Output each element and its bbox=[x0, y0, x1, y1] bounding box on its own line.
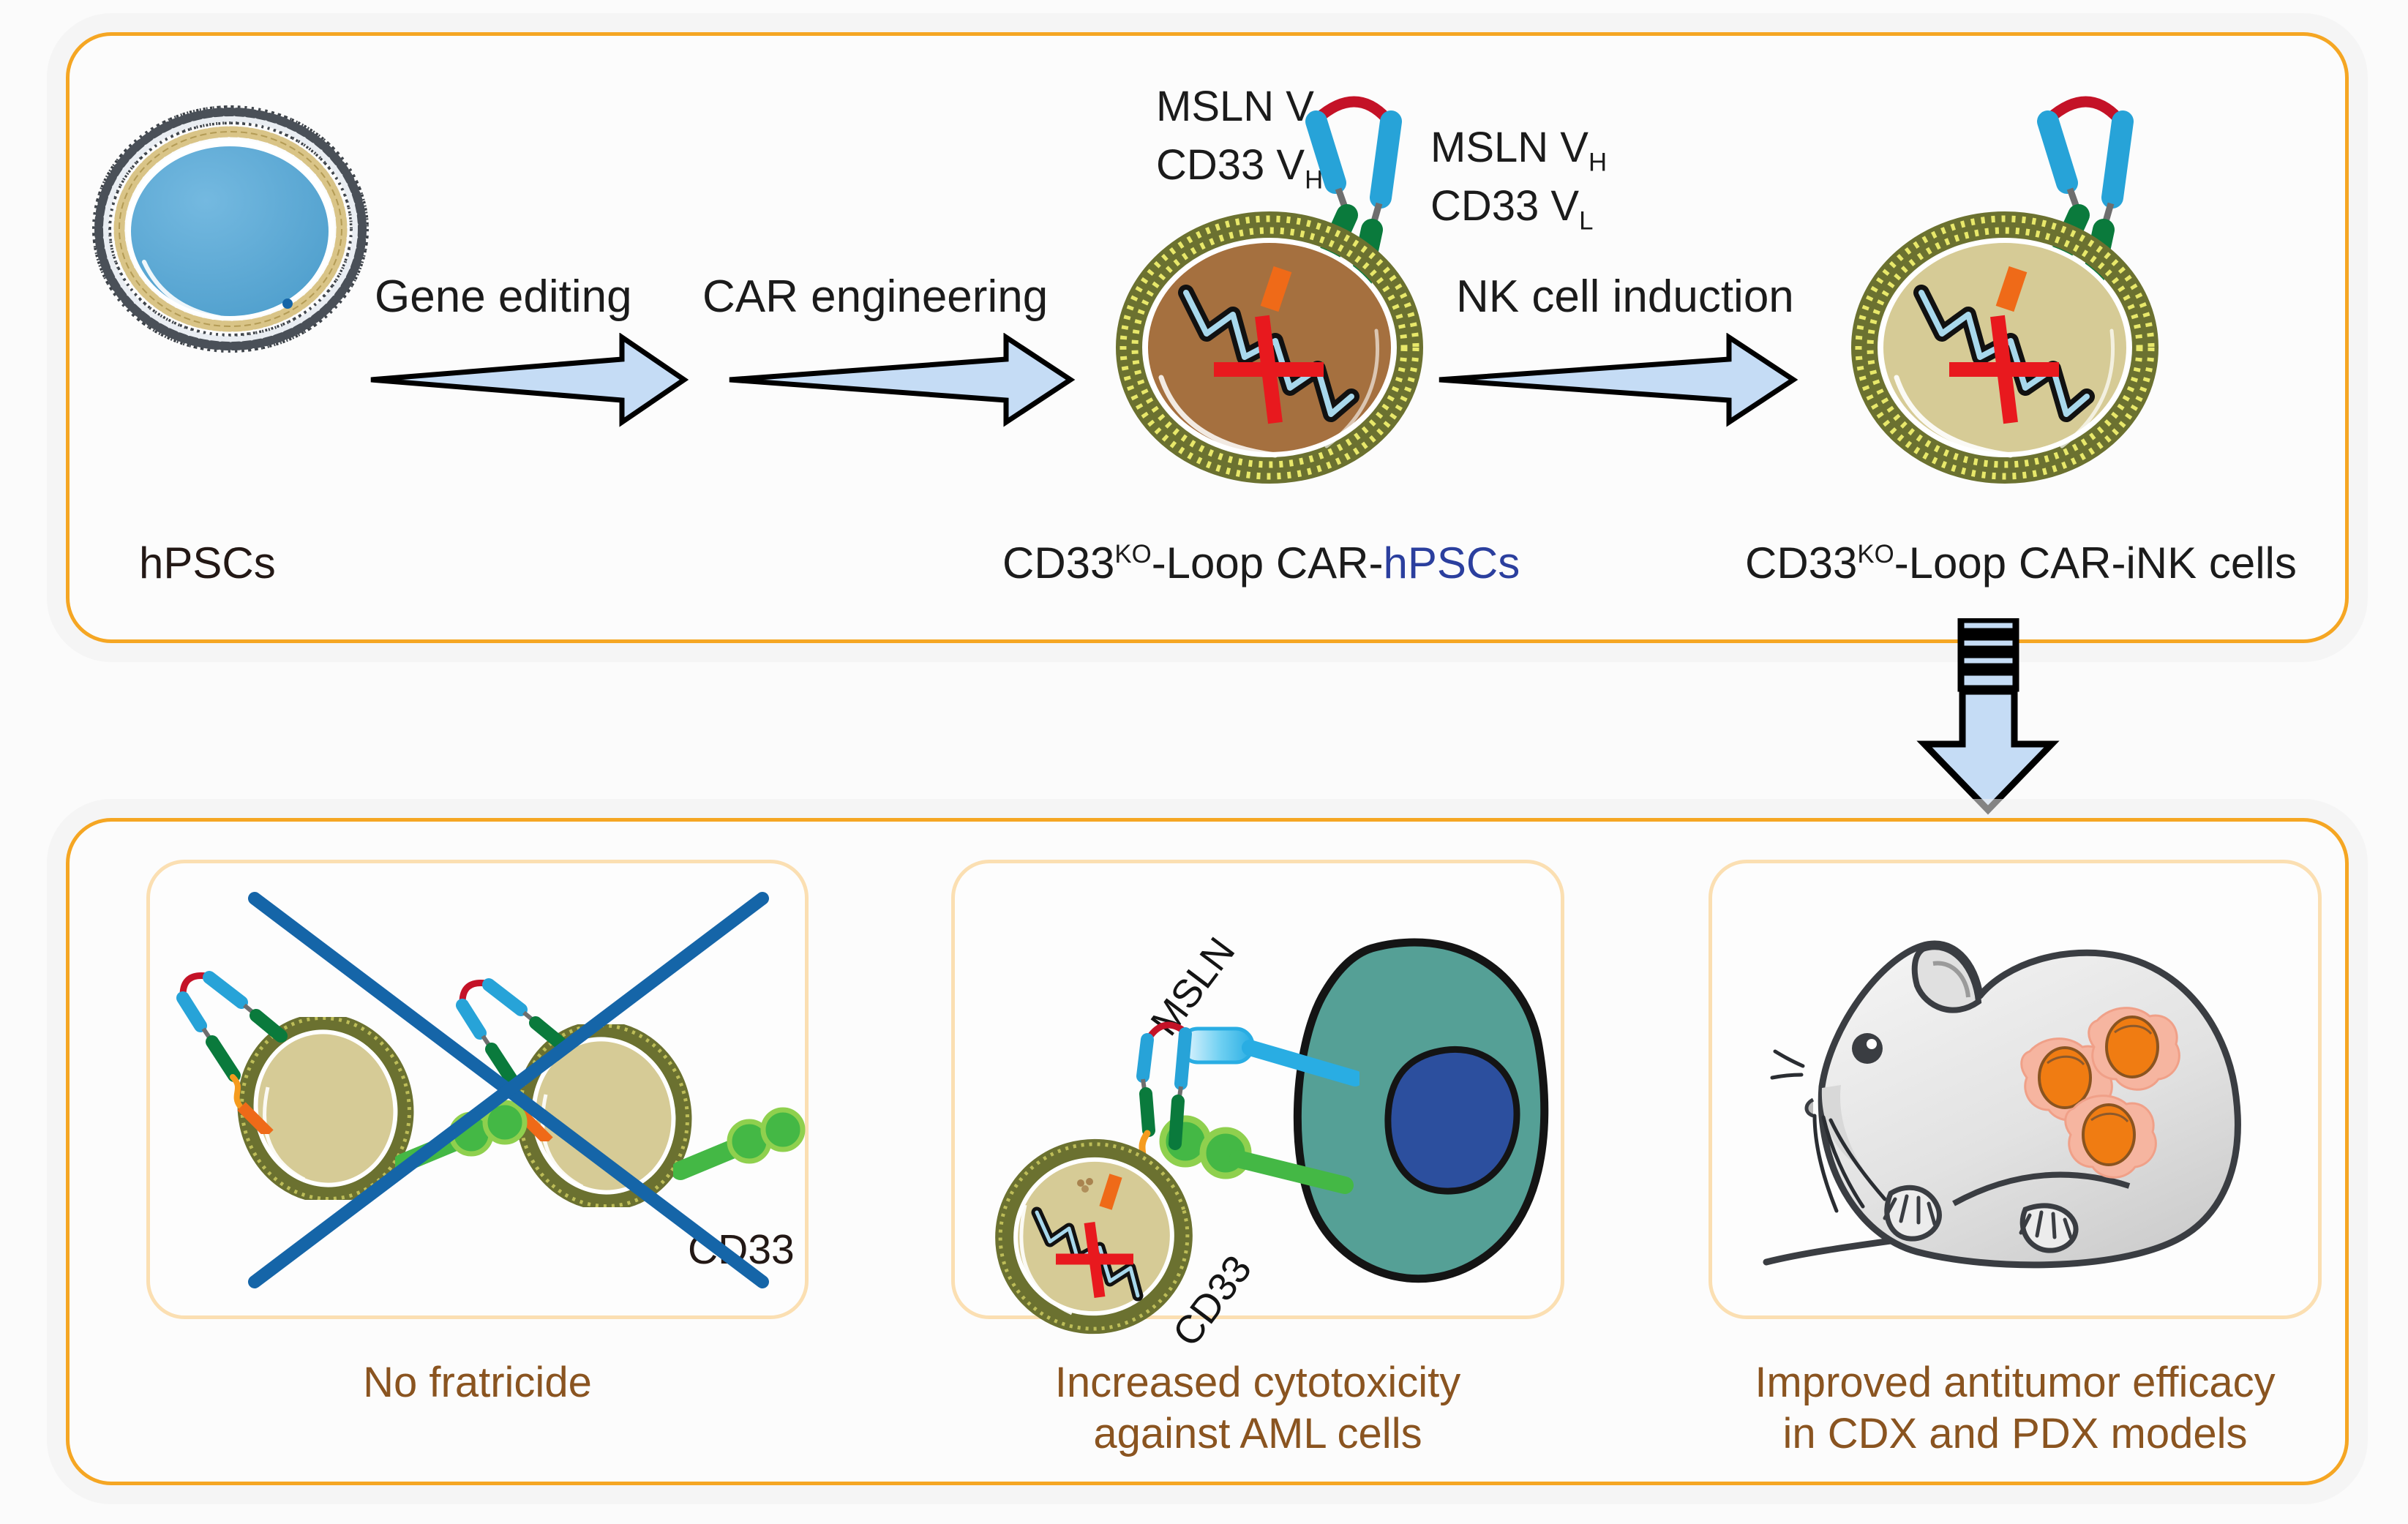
label-cd33ko-loop-car-ink-cells: CD33KO-Loop CAR-iNK cells bbox=[1745, 538, 2297, 588]
label-car-engineering: CAR engineering bbox=[702, 271, 1048, 323]
caption-improved-efficacy: Improved antitumor efficacy in CDX and P… bbox=[1709, 1357, 2322, 1459]
arrow-gene-editing bbox=[370, 333, 721, 432]
arrow-nk-cell-induction bbox=[1438, 333, 1833, 432]
caption-increased-cytotoxicity: Increased cytotoxicity against AML cells bbox=[951, 1357, 1564, 1459]
figure-root: hPSCs Gene editing CAR engineering MSLN … bbox=[0, 0, 2408, 1524]
cell-hpsc bbox=[91, 108, 370, 350]
arrow-car-engineering bbox=[728, 333, 1109, 432]
label-cd33ko-loop-car-hpscs: CD33KO-Loop CAR-hPSCs bbox=[1002, 538, 1520, 588]
cell-cd33ko-loop-car-hpsc bbox=[1116, 212, 1423, 483]
fratricide-cross-icon bbox=[241, 885, 776, 1299]
label-gene-editing: Gene editing bbox=[375, 271, 632, 323]
label-nk-cell-induction: NK cell induction bbox=[1456, 271, 1794, 323]
caption-no-fratricide: No fratricide bbox=[146, 1357, 809, 1408]
down-arrow-icon bbox=[1911, 618, 2065, 819]
label-hpscs: hPSCs bbox=[139, 538, 276, 588]
effector-ink-cell bbox=[991, 1138, 1196, 1339]
cell-cd33ko-loop-car-ink bbox=[1851, 212, 2158, 483]
mouse-illustration bbox=[1734, 896, 2305, 1310]
